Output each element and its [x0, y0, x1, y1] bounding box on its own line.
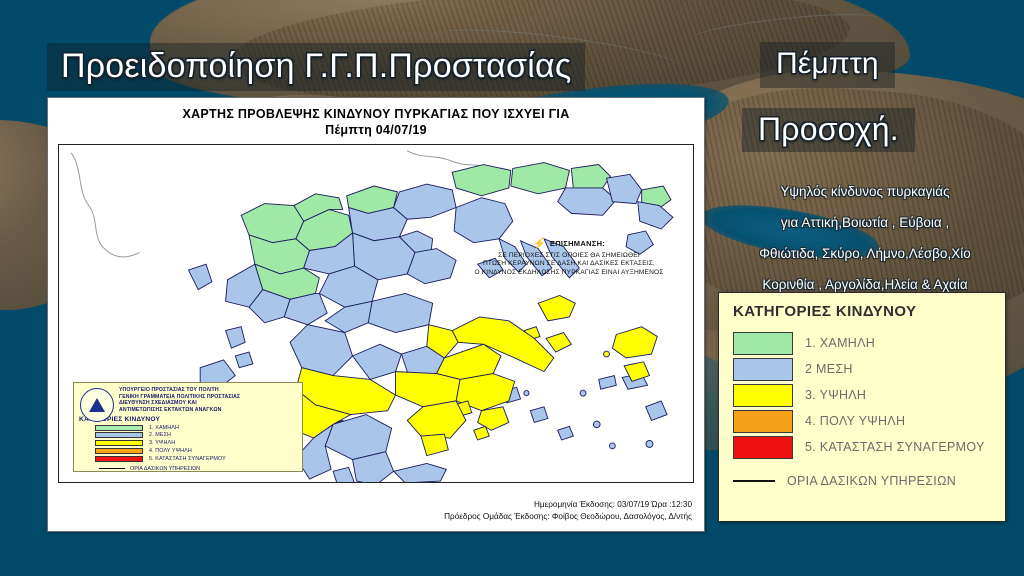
legend-boundary-label: ΟΡΙΑ ΔΑΣΙΚΩΝ ΥΠΗΡΕΣΙΩΝ	[787, 474, 956, 488]
emblem-triangle	[89, 398, 105, 412]
region-med-fthiotida	[368, 293, 432, 332]
islet-psara	[604, 351, 610, 357]
warning-line-1: Υψηλός κίνδυνος πυρκαγιάς	[710, 176, 1020, 207]
legend-label-high: 3. ΥΨΗΛΗ	[805, 388, 866, 402]
inset-label-high: 3. ΥΨΗΛΗ	[149, 440, 175, 446]
region-high-aegina	[474, 426, 490, 440]
ministry-text-block: ΥΠΟΥΡΓΕΙΟ ΠΡΟΣΤΑΣΙΑΣ ΤΟΥ ΠΟΛΙΤΗ ΓΕΝΙΚΗ Γ…	[119, 387, 297, 413]
inset-label-very-high: 4. ΠΟΛΥ ΥΨΗΛΗ	[149, 448, 192, 454]
legend-label-alarm: 5. ΚΑΤΑΣΤΑΣΗ ΣΥΝΑΓΕΡΜΟΥ	[805, 440, 985, 454]
map-note-line-1: ΣΕ ΠΕΡΙΟΧΕΣ ΣΤΙΣ ΟΠΟΙΕΣ ΘΑ ΣΗΜΕΙΩΘΕΙ	[453, 252, 685, 260]
regions-crete	[394, 463, 447, 482]
legend-swatch-alarm	[733, 436, 793, 459]
inset-legend-row: 1. ΧΑΜΗΛΗ	[79, 424, 297, 431]
region-low-drama	[571, 165, 610, 188]
islet-3	[609, 443, 615, 449]
region-high-lemnos	[538, 295, 575, 320]
warning-text-block: Υψηλός κίνδυνος πυρκαγιάς για Αττική,Βοι…	[710, 176, 1020, 300]
region-med-fokida	[353, 344, 402, 379]
map-title-line: ΧΑΡΤΗΣ ΠΡΟΒΛΕΨΗΣ ΚΙΝΔΥΝΟΥ ΠΥΡΚΑΓΙΑΣ ΠΟΥ …	[48, 106, 704, 122]
region-high-argolida-south	[421, 434, 448, 455]
region-med-chalkidiki	[454, 198, 513, 243]
region-high-attica-south	[478, 407, 509, 430]
map-inset-legend: ΥΠΟΥΡΓΕΙΟ ΠΡΟΣΤΑΣΙΑΣ ΤΟΥ ΠΟΛΙΤΗ ΓΕΝΙΚΗ Γ…	[73, 382, 303, 472]
inset-boundary-label: ΟΡΙΑ ΔΑΣΙΚΩΝ ΥΠΗΡΕΣΙΩΝ	[130, 466, 200, 472]
region-med-evritania	[325, 301, 372, 332]
region-med-kavala	[558, 188, 617, 215]
legend-swatch-low	[733, 332, 793, 355]
legend-row-high: 3. ΥΨΗΛΗ	[733, 382, 993, 408]
islet-1	[580, 390, 586, 396]
inset-label-low: 1. ΧΑΜΗΛΗ	[149, 425, 179, 431]
inset-boundary-row: ΟΡΙΑ ΔΑΣΙΚΩΝ ΥΠΗΡΕΣΙΩΝ	[99, 466, 297, 472]
legend-label-very-high: 4. ΠΟΛΥ ΥΨΗΛΗ	[805, 414, 905, 428]
islet-5	[524, 391, 529, 396]
ministry-line-4: ΑΝΤΙΜΕΤΩΠΙΣΗΣ ΕΚΤΑΚΤΩΝ ΑΝΑΓΚΩΝ	[119, 407, 297, 414]
forecast-day-title: Πέμπτη	[760, 42, 895, 88]
inset-swatch-alarm	[95, 456, 143, 462]
map-subtitle: Πέμπτη 04/07/19	[48, 122, 704, 138]
legend-row-medium: 2 ΜΕΣΗ	[733, 356, 993, 382]
region-med-cyclades-b	[530, 407, 548, 423]
inset-legend-row: 2. ΜΕΣΗ	[79, 432, 297, 439]
legend-row-alarm: 5. ΚΑΤΑΣΤΑΣΗ ΣΥΝΑΓΕΡΜΟΥ	[733, 434, 993, 460]
inset-label-medium: 2. ΜΕΣΗ	[149, 432, 171, 438]
inset-legend-row: 5. ΚΑΤΑΣΤΑΣΗ ΣΥΝΑΓΕΡΜΟΥ	[79, 455, 297, 462]
region-med-xanthi	[607, 174, 642, 203]
region-med-lefkada	[226, 327, 246, 348]
legend-boundary-line-icon	[733, 480, 775, 482]
region-med-dodecanese	[646, 401, 667, 421]
region-med-chania	[394, 463, 447, 482]
inset-label-alarm: 5. ΚΑΤΑΣΤΑΣΗ ΣΥΝΑΓΕΡΜΟΥ	[149, 456, 226, 462]
map-note-line-2: ΠΤΩΣΗ ΚΕΡΑΥΝΩΝ ΣΕ ΔΑΣΗ ΚΑΙ ΔΑΣΙΚΕΣ ΕΚΤΑΣ…	[453, 260, 685, 268]
map-note-line-3: Ο ΚΙΝΔΥΝΟΣ ΕΚΔΗΛΩΣΗΣ ΠΥΡΚΑΓΙΑΣ ΕΙΝΑΙ ΑΥΞ…	[453, 269, 685, 277]
ministry-line-1: ΥΠΟΥΡΓΕΙΟ ΠΡΟΣΤΑΣΙΑΣ ΤΟΥ ΠΟΛΙΤΗ	[119, 387, 297, 394]
region-high-argolida	[407, 401, 466, 438]
islet-2	[593, 421, 600, 428]
inset-swatch-high	[95, 440, 143, 446]
map-title-block: ΧΑΡΤΗΣ ΠΡΟΒΛΕΨΗΣ ΚΙΝΔΥΝΟΥ ΠΥΡΚΑΓΙΑΣ ΠΟΥ …	[48, 106, 704, 138]
legend-row-very-high: 4. ΠΟΛΥ ΥΨΗΛΗ	[733, 408, 993, 434]
region-med-cyclades-c	[558, 426, 574, 440]
region-med-ithaca	[235, 352, 253, 368]
region-med-corfu	[188, 264, 211, 289]
page-title: Προειδοποίηση Γ.Γ.Π.Προστασίας	[47, 43, 585, 91]
fire-risk-map-panel: ΧΑΡΤΗΣ ΠΡΟΒΛΕΨΗΣ ΚΙΝΔΥΝΟΥ ΠΥΡΚΑΓΙΑΣ ΠΟΥ …	[47, 97, 705, 532]
warning-line-2: για Αττική,Βοιωτία , Εύβοια ,	[710, 207, 1020, 238]
legend-swatch-medium	[733, 358, 793, 381]
region-med-aitoloakarnania	[290, 325, 353, 376]
legend-label-low: 1. ΧΑΜΗΛΗ	[805, 336, 875, 350]
region-low-serres	[511, 163, 570, 194]
warning-line-3: Φθιώτιδα, Σκύρο, Λήμνο,Λέσβο,Χίο	[710, 238, 1020, 269]
map-issue-date: Ημερομηνία Έκδοσης: 03/07/19 Ώρα :12:30	[272, 499, 692, 511]
map-note-block: ⚡ΕΠΙΣΗΜΑΝΣΗ: ΣΕ ΠΕΡΙΟΧΕΣ ΣΤΙΣ ΟΠΟΙΕΣ ΘΑ …	[453, 237, 685, 277]
attention-title: Προσοχή.	[742, 108, 915, 152]
inset-legend-row: 4. ΠΟΛΥ ΥΨΗΛΗ	[79, 447, 297, 454]
legend-row-low: 1. ΧΑΜΗΛΗ	[733, 330, 993, 356]
inset-legend-row: 3. ΥΨΗΛΗ	[79, 440, 297, 447]
civil-protection-emblem-icon	[80, 388, 114, 422]
risk-legend-box: ΚΑΤΗΓΟΡΙΕΣ ΚΙΝΔΥΝΟΥ 1. ΧΑΜΗΛΗ 2 ΜΕΣΗ 3. …	[718, 292, 1006, 522]
inset-swatch-medium	[95, 432, 143, 438]
map-note-heading: ⚡ΕΠΙΣΗΜΑΝΣΗ:	[453, 237, 685, 250]
ministry-line-3: ΔΙΕΥΘΥΝΣΗ ΣΧΕΔΙΑΣΜΟΥ ΚΑΙ	[119, 400, 297, 407]
region-high-lesvos	[612, 327, 657, 358]
inset-legend-title: ΚΑΤΗΓΟΡΙΕΣ ΚΙΝΔΥΝΟΥ	[79, 416, 297, 423]
inset-swatch-very-high	[95, 448, 143, 454]
map-frame: ⚡ΕΠΙΣΗΜΑΝΣΗ: ΣΕ ΠΕΡΙΟΧΕΣ ΣΤΙΣ ΟΠΟΙΕΣ ΘΑ …	[58, 144, 694, 483]
map-president-line: Πρόεδρος Ομάδας Έκδοσης: Φοίβος Θεοδώρου…	[272, 511, 692, 523]
legend-swatch-very-high	[733, 410, 793, 433]
inset-swatch-low	[95, 425, 143, 431]
ministry-line-2: ΓΕΝΙΚΗ ΓΡΑΜΜΑΤΕΙΑ ΠΟΛΙΤΙΚΗΣ ΠΡΟΣΤΑΣΙΑΣ	[119, 394, 297, 401]
region-med-rodopi	[638, 202, 673, 229]
region-high-skyros	[546, 333, 571, 353]
region-med-magnesia	[407, 249, 456, 284]
region-med-thessaloniki	[394, 184, 457, 219]
inset-boundary-line-icon	[99, 468, 125, 469]
legend-title: ΚΑΤΗΓΟΡΙΕΣ ΚΙΝΔΥΝΟΥ	[733, 303, 993, 320]
map-note-heading-text: ΕΠΙΣΗΜΑΝΣΗ:	[550, 239, 605, 248]
legend-label-medium: 2 ΜΕΣΗ	[805, 362, 853, 376]
lightning-bolt-icon: ⚡	[533, 238, 547, 250]
islet-4	[646, 440, 653, 447]
slide-root: Προειδοποίηση Γ.Γ.Π.Προστασίας Πέμπτη Πρ…	[0, 0, 1024, 576]
region-med-ikaria	[599, 376, 617, 390]
map-footer: Ημερομηνία Έκδοσης: 03/07/19 Ώρα :12:30 …	[272, 499, 692, 523]
region-med-mani	[333, 467, 354, 482]
legend-boundary-row: ΟΡΙΑ ΔΑΣΙΚΩΝ ΥΠΗΡΕΣΙΩΝ	[733, 474, 993, 488]
neighbour-coastline	[71, 153, 139, 257]
region-low-kilkis	[452, 165, 511, 196]
legend-swatch-high	[733, 384, 793, 407]
